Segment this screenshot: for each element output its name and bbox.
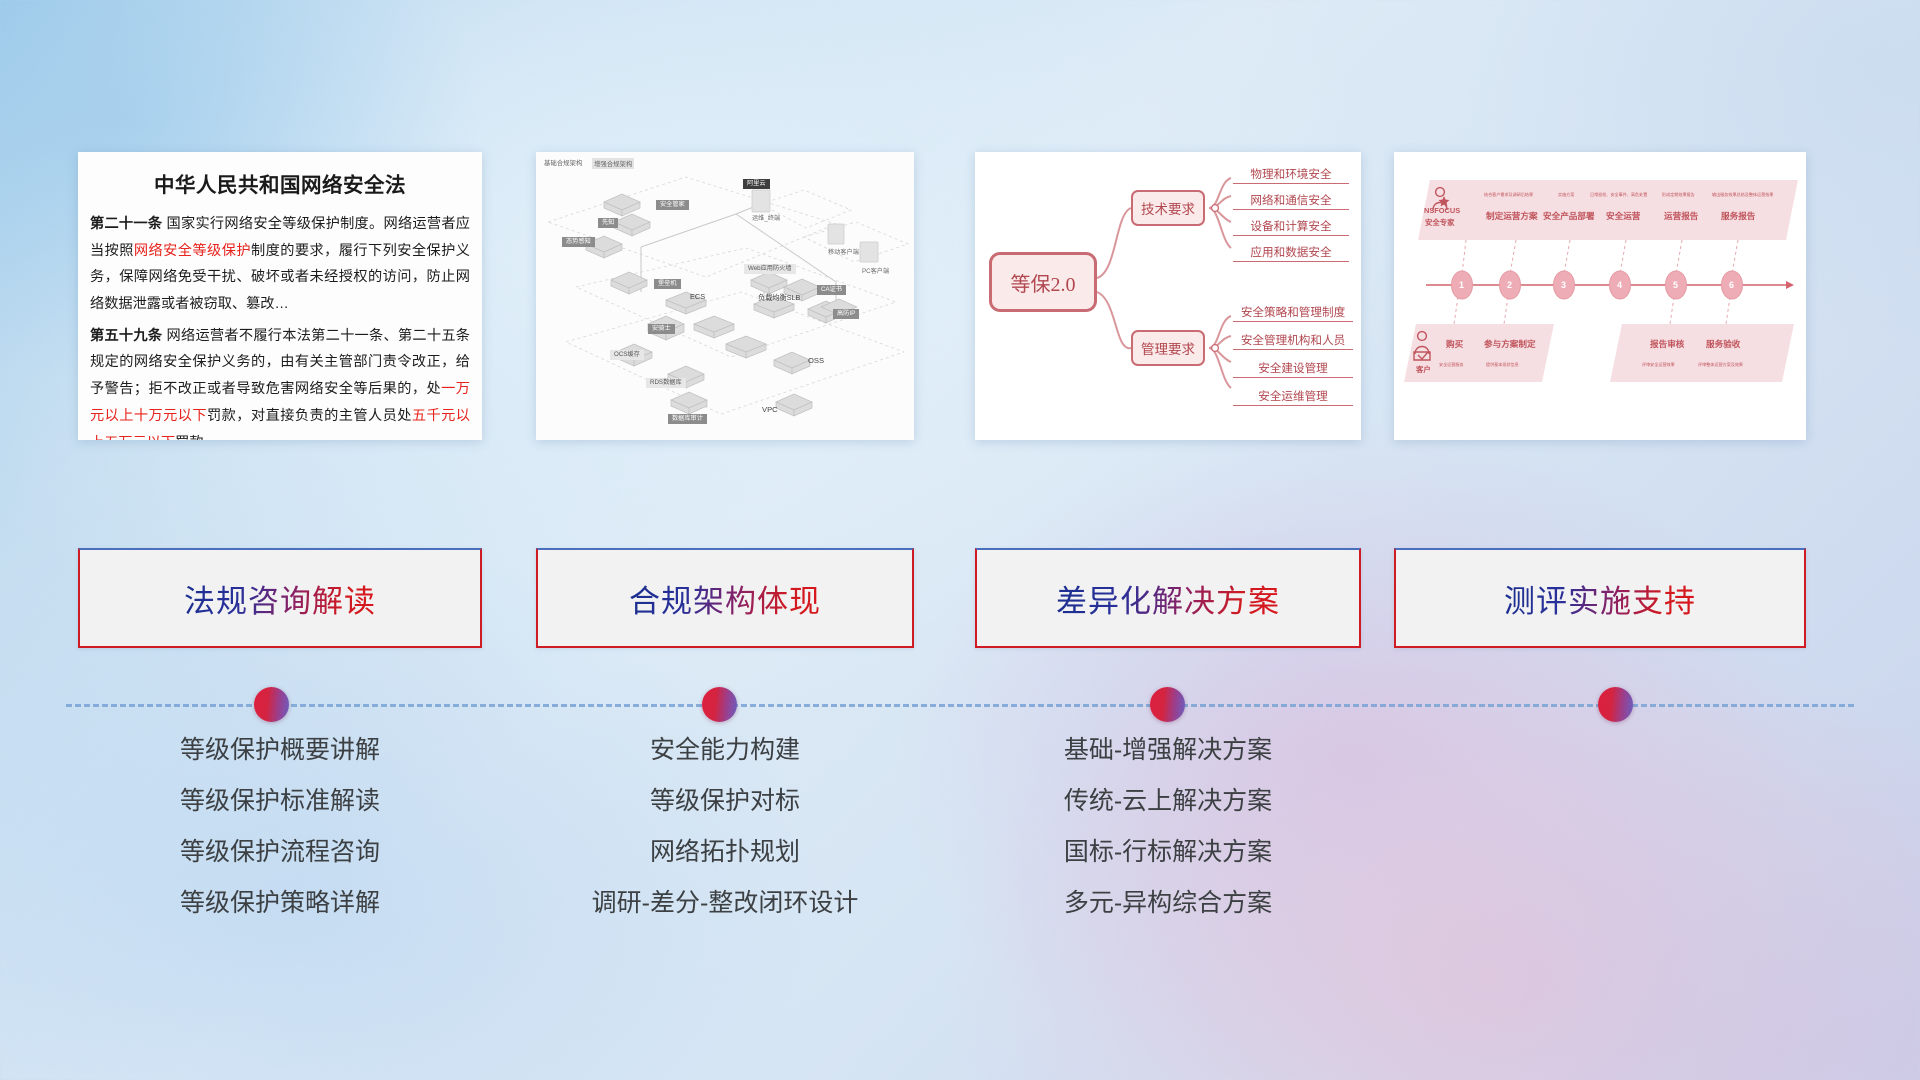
arch-node-waf: Web应用防火墙 — [744, 264, 796, 274]
timeline-dot-1[interactable] — [702, 687, 737, 722]
roadmap-top-sub-3: 形成定期效果报告 — [1662, 192, 1695, 198]
pillar-item: 安全能力构建 — [536, 738, 914, 763]
arch-node-anti-ddos-ip: 高防IP — [833, 309, 859, 319]
roadmap-top-sub-4: 输出服务效果总结及整体运营效果 — [1712, 192, 1773, 198]
mindmap-branch-technical: 技术要求 — [1131, 190, 1205, 226]
pillar-title-text-1: 合规架构体现 — [629, 576, 821, 621]
mindmap-leaf-mgmt-2: 安全建设管理 — [1233, 360, 1353, 378]
mindmap-leaf-mgmt-1: 安全管理机构和人员 — [1233, 332, 1353, 350]
pillar-title-box-0[interactable]: 法规咨询解读 — [78, 548, 482, 648]
roadmap-step-num-5: 6 — [1729, 280, 1734, 290]
pillar-title-box-1[interactable]: 合规架构体现 — [536, 548, 914, 648]
timeline-dot-2[interactable] — [1150, 687, 1185, 722]
law-article-59: 第五十九条 网络运营者不履行本法第二十一条、第二十五条规定的网络安全保护义务的，… — [90, 323, 470, 440]
arch-node-ocs-cache: OCS缓存 — [610, 350, 644, 360]
roadmap-step-num-1: 2 — [1507, 280, 1512, 290]
roadmap-step-num-3: 4 — [1617, 280, 1622, 290]
mindmap: 等保2.0 技术要求 管理要求 物理和环境安全 网络和通信安全 设备和计算安全 … — [975, 152, 1361, 440]
pillar-detail-columns: 等级保护概要讲解 等级保护标准解读 等级保护流程咨询 等级保护策略详解 安全能力… — [0, 738, 1920, 988]
architecture-diagram: 基础合规架构 增强合规架构 阿里云 安全管家 先知 态势感知 堡垒机 ECS 安… — [536, 152, 914, 440]
pillar-item: 等级保护流程咨询 — [78, 840, 482, 865]
pillar-item: 调研-差分-整改闭环设计 — [536, 891, 914, 916]
roadmap-bottom-title-3: 服务验收 — [1706, 338, 1740, 350]
card-cloud-architecture[interactable]: 基础合规架构 增强合规架构 阿里云 安全管家 先知 态势感知 堡垒机 ECS 安… — [536, 152, 914, 440]
pillar-item: 多元-异构综合方案 — [975, 891, 1361, 916]
roadmap-top-title-3: 运营报告 — [1664, 210, 1698, 222]
law-article-59-seg-4: 罚款。 — [175, 435, 218, 441]
pillar-item: 网络拓扑规划 — [536, 840, 914, 865]
law-article-21-label: 第二十一条 — [90, 216, 162, 232]
roadmap-top-title-1: 安全产品部署 — [1543, 210, 1595, 222]
arch-header-1: 增强合规架构 — [592, 158, 634, 169]
roadmap-bottom-sub-3: 评审整体运营方案及效果 — [1698, 362, 1743, 368]
roadmap-top-title-2: 安全运营 — [1606, 210, 1640, 222]
roadmap-top-title-4: 服务报告 — [1721, 210, 1755, 222]
roadmap-bottom-sub-1: 提供基本现状信息 — [1486, 362, 1519, 368]
pillar-column-2: 基础-增强解决方案 传统-云上解决方案 国标-行标解决方案 多元-异构综合方案 — [975, 738, 1361, 942]
arch-node-mobile-client: 移动客户端 — [824, 248, 863, 258]
roadmap-step-num-0: 1 — [1459, 280, 1464, 290]
mindmap-leaf-tech-1: 网络和通信安全 — [1233, 192, 1349, 210]
pillar-item: 等级保护对标 — [536, 789, 914, 814]
architecture-connectors — [536, 152, 914, 440]
pillar-item: 等级保护概要讲解 — [78, 738, 482, 763]
mindmap-leaf-tech-0: 物理和环境安全 — [1233, 166, 1349, 184]
roadmap-step-num-4: 5 — [1673, 280, 1678, 290]
roadmap-top-actor-line2: 安全专家 — [1425, 217, 1455, 228]
mindmap-leaf-mgmt-3: 安全运维管理 — [1233, 388, 1353, 406]
timeline-dashed-line — [66, 704, 1854, 707]
pillar-item: 等级保护策略详解 — [78, 891, 482, 916]
card-dengbao-mindmap[interactable]: 等保2.0 技术要求 管理要求 物理和环境安全 网络和通信安全 设备和计算安全 … — [975, 152, 1361, 440]
card-service-roadmap[interactable]: NSFOCUS 安全专家 客户 结合客户需求及调研后结果 制定运营方案 实施方案… — [1394, 152, 1806, 440]
preview-card-row: 中华人民共和国网络安全法 第二十一条 国家实行网络安全等级保护制度。网络运营者应… — [0, 152, 1920, 442]
arch-node-anqishi: 安骑士 — [648, 324, 675, 334]
arch-node-rds: RDS数据库 — [646, 378, 686, 388]
roadmap-bottom-title-0: 购买 — [1446, 338, 1463, 350]
pillar-title-box-3[interactable]: 测评实施支持 — [1394, 548, 1806, 648]
roadmap-bottom-sub-2: 评审安全运营效果 — [1642, 362, 1675, 368]
pillar-item: 国标-行标解决方案 — [975, 840, 1361, 865]
pillar-title-text-3: 测评实施支持 — [1504, 576, 1696, 621]
arch-node-taishiganzhi: 态势感知 — [562, 237, 595, 247]
arch-node-oss: OSS — [804, 355, 828, 367]
roadmap-bottom-title-2: 报告审核 — [1650, 338, 1684, 350]
mindmap-leaf-tech-3: 应用和数据安全 — [1233, 244, 1349, 262]
arch-header-0: 基础合规架构 — [544, 158, 582, 167]
arch-node-baoleiji: 堡垒机 — [654, 279, 681, 289]
roadmap-bottom-sub-0: 安全运营服务 — [1439, 362, 1464, 368]
pillar-item: 传统-云上解决方案 — [975, 789, 1361, 814]
pillar-title-row: 法规咨询解读 合规架构体现 差异化解决方案 测评实施支持 — [0, 548, 1920, 652]
roadmap-top-sub-0: 结合客户需求及调研后结果 — [1484, 192, 1533, 198]
arch-node-db-audit: 数据库审计 — [668, 414, 707, 424]
pillar-column-0: 等级保护概要讲解 等级保护标准解读 等级保护流程咨询 等级保护策略详解 — [78, 738, 482, 942]
roadmap-bottom-actor: 客户 — [1416, 364, 1431, 375]
pillar-item: 等级保护标准解读 — [78, 789, 482, 814]
roadmap-top-title-0: 制定运营方案 — [1486, 210, 1538, 222]
pillar-column-1: 安全能力构建 等级保护对标 网络拓扑规划 调研-差分-整改闭环设计 — [536, 738, 914, 942]
timeline — [0, 675, 1920, 735]
roadmap-step-num-2: 3 — [1561, 280, 1566, 290]
arch-node-slb: 负载均衡SLB — [754, 292, 804, 303]
roadmap-top-actor-line1: NSFOCUS — [1424, 206, 1460, 215]
arch-node-ops-terminal: 运维_终端 — [748, 214, 784, 224]
pillar-title-box-2[interactable]: 差异化解决方案 — [975, 548, 1361, 648]
law-article-21: 第二十一条 国家实行网络安全等级保护制度。网络运营者应当按照网络安全等级保护制度… — [90, 211, 470, 318]
pillar-title-text-0: 法规咨询解读 — [184, 576, 376, 621]
arch-node-xianzhi: 先知 — [598, 218, 618, 228]
law-body: 第二十一条 国家实行网络安全等级保护制度。网络运营者应当按照网络安全等级保护制度… — [78, 211, 482, 440]
law-article-59-seg-2: 罚款，对直接负责的主管人员处 — [207, 408, 412, 424]
timeline-dot-0[interactable] — [254, 687, 289, 722]
law-article-21-seg-1: 网络安全等级保护 — [134, 243, 251, 259]
roadmap-bottom-title-1: 参与方案制定 — [1484, 338, 1536, 350]
pillar-title-text-2: 差异化解决方案 — [1056, 576, 1280, 621]
card-cybersecurity-law[interactable]: 中华人民共和国网络安全法 第二十一条 国家实行网络安全等级保护制度。网络运营者应… — [78, 152, 482, 440]
arch-node-ecs: ECS — [686, 291, 709, 302]
arch-node-vpc: VPC — [758, 404, 782, 416]
timeline-dot-3[interactable] — [1598, 687, 1633, 722]
pillar-item: 基础-增强解决方案 — [975, 738, 1361, 763]
law-title: 中华人民共和国网络安全法 — [78, 168, 482, 198]
arch-node-aliyun: 阿里云 — [743, 179, 770, 189]
mindmap-root-node: 等保2.0 — [989, 252, 1097, 312]
mindmap-branch-management: 管理要求 — [1131, 330, 1205, 366]
law-article-59-label: 第五十九条 — [90, 328, 162, 344]
arch-node-anquanguanjia: 安全管家 — [656, 200, 689, 210]
mindmap-leaf-tech-2: 设备和计算安全 — [1233, 218, 1349, 236]
mindmap-leaf-mgmt-0: 安全策略和管理制度 — [1233, 304, 1353, 322]
arch-node-pc-client: PC客户端 — [858, 267, 893, 277]
roadmap-diagram: NSFOCUS 安全专家 客户 结合客户需求及调研后结果 制定运营方案 实施方案… — [1394, 152, 1806, 440]
roadmap-top-sub-1: 实施方案 — [1558, 192, 1574, 198]
arch-node-ca-cert: CA证书 — [817, 285, 846, 295]
roadmap-top-sub-2: 日常巡检、安全事件、高危处置 — [1590, 192, 1647, 198]
